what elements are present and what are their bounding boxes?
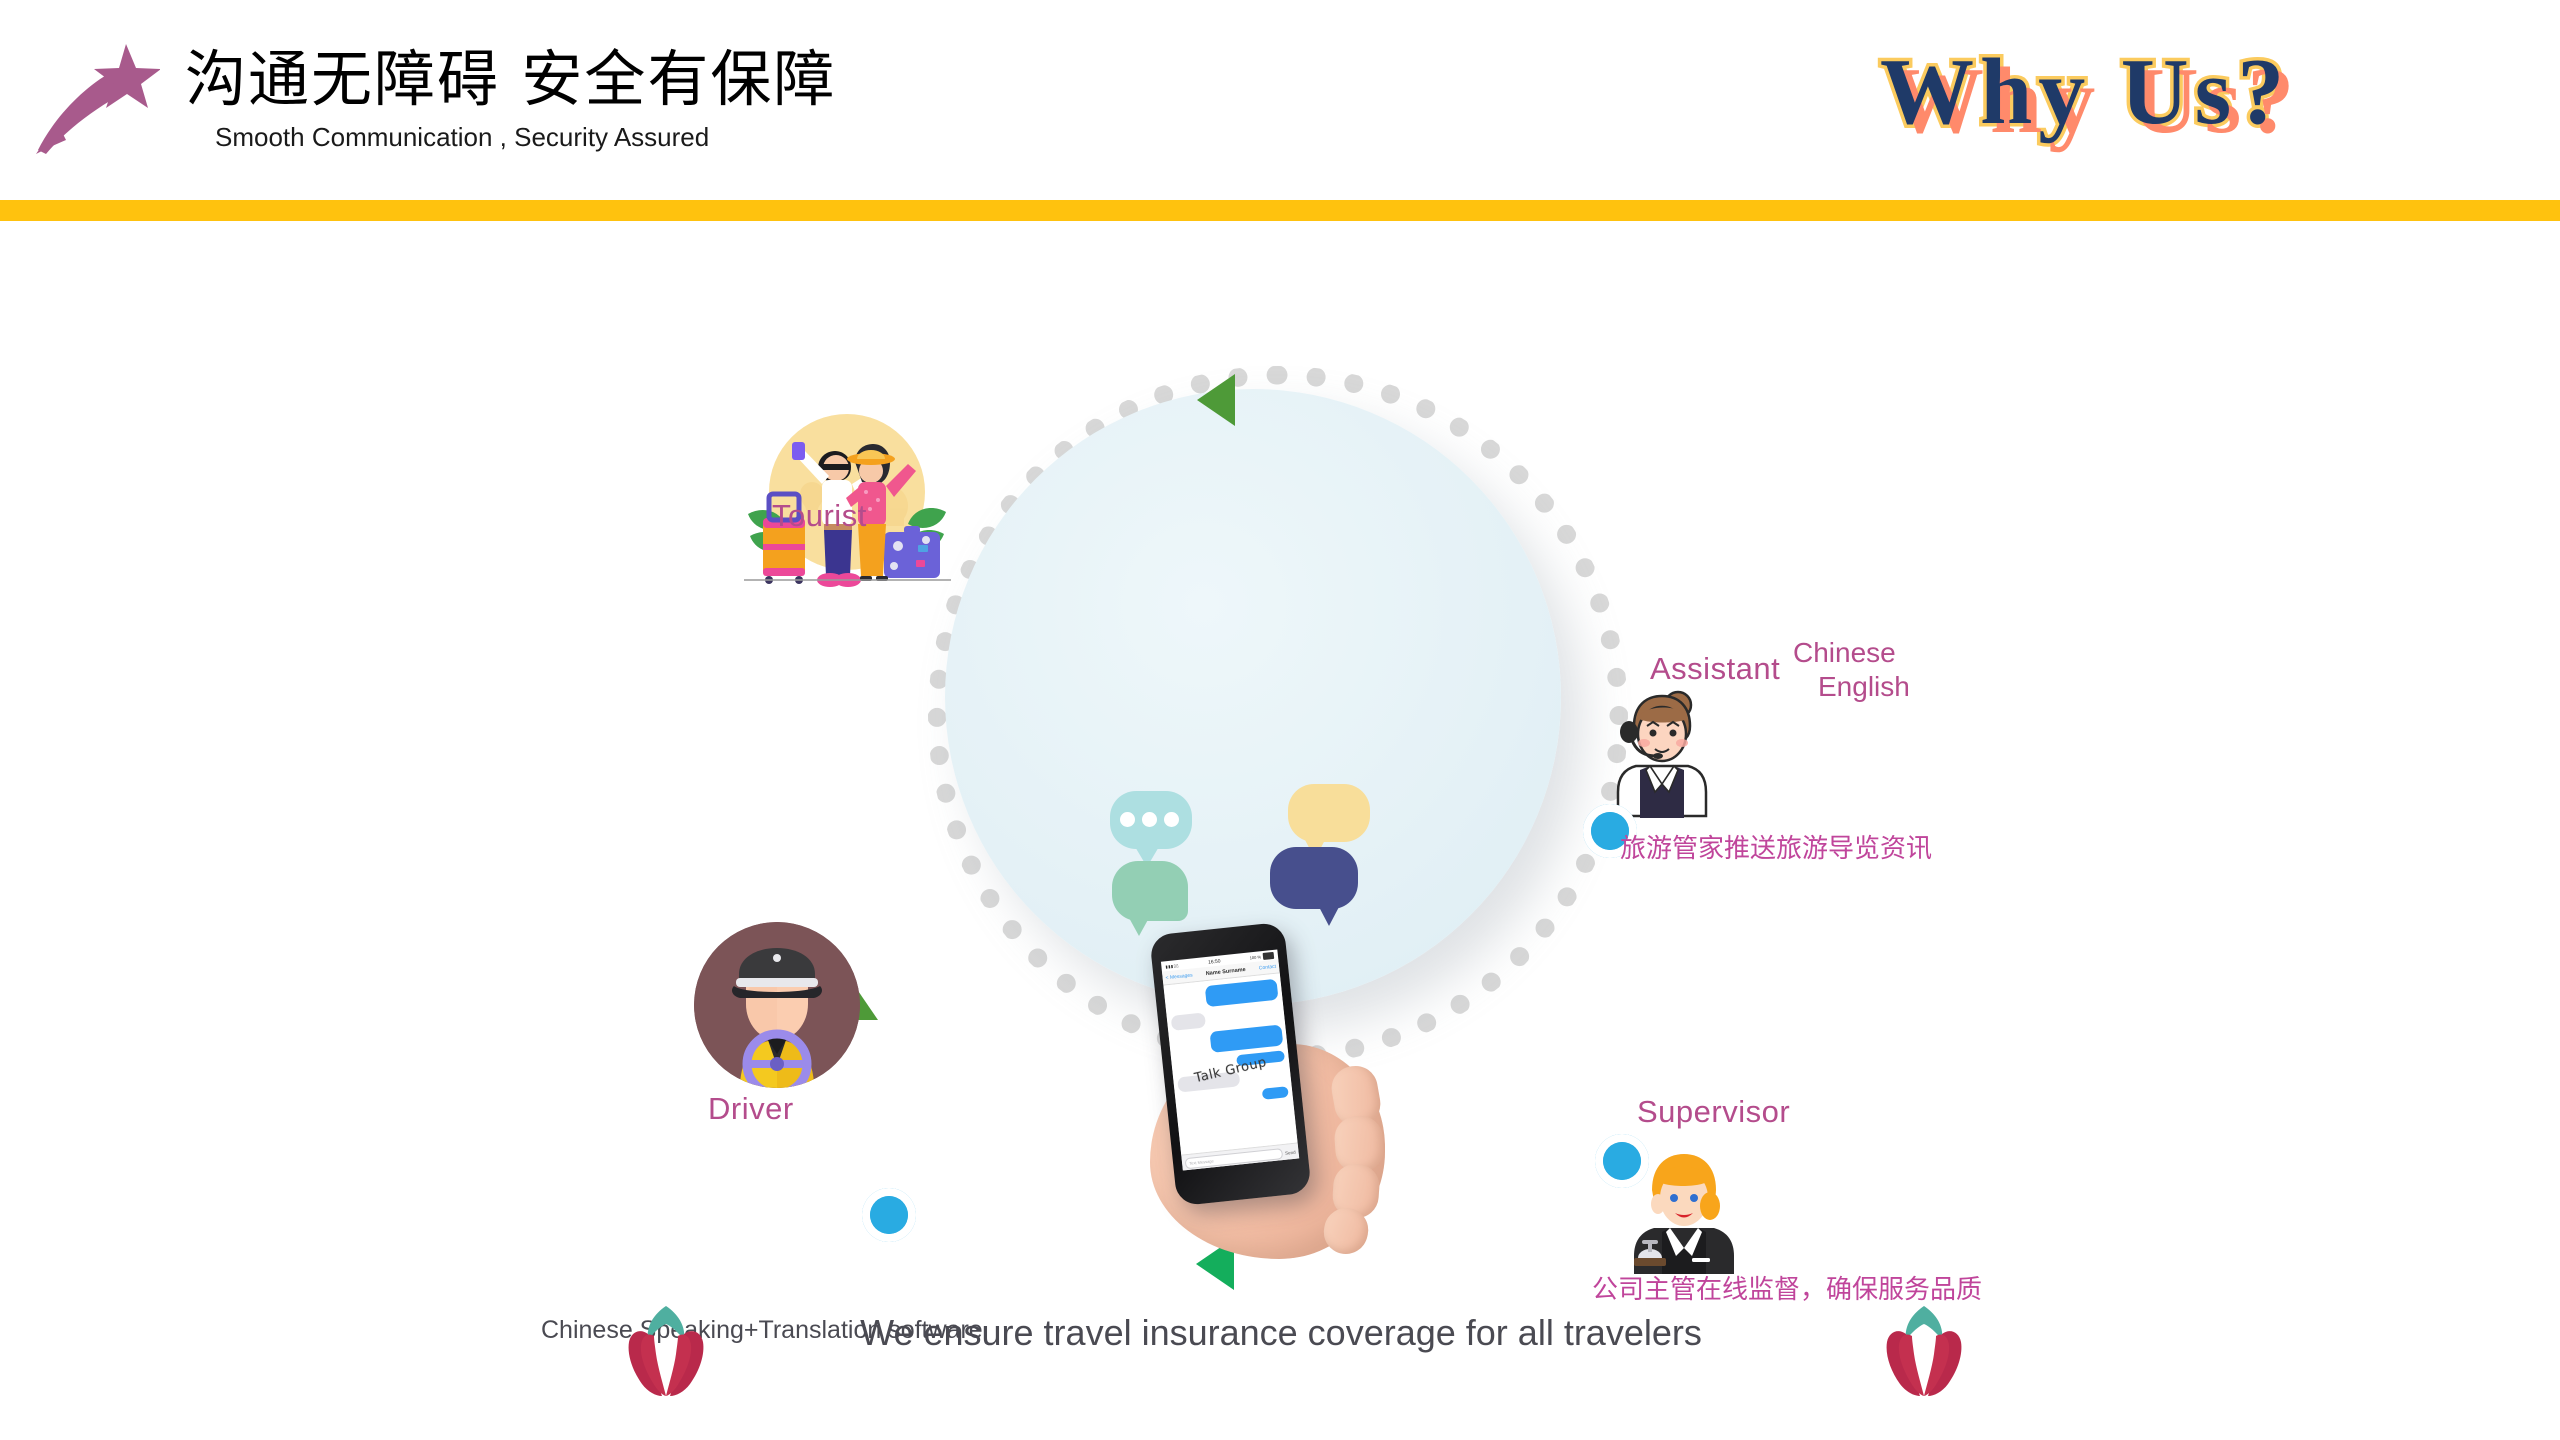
slide-root: 沟通无障碍 安全有保障 Smooth Communication , Secur… [0, 0, 2560, 1440]
smartphone-mockup: ▮▮▮▯▯ 16:50 100 % < Messages Name Surnam… [1149, 922, 1312, 1207]
why-us-heading: Why Us? [1880, 38, 2290, 146]
chat-bubble-outgoing [1210, 1024, 1284, 1052]
assistant-headset-avatar [1610, 686, 1718, 818]
node-label-driver: Driver [708, 1091, 794, 1127]
header-text-block: 沟通无障碍 安全有保障 Smooth Communication , Secur… [185, 48, 836, 153]
chat-bubble-outgoing [1262, 1086, 1289, 1100]
back-to-messages-button[interactable]: < Messages [1165, 972, 1193, 981]
phone-screen: ▮▮▮▯▯ 16:50 100 % < Messages Name Surnam… [1161, 949, 1299, 1170]
mint-bubble-icon [1112, 861, 1188, 921]
footer: We ensure travel insurance coverage for … [0, 1290, 2560, 1430]
node-label-supervisor: Supervisor [1637, 1094, 1790, 1130]
shooting-star-icon [30, 38, 160, 158]
chat-message-list: Talk Group [1163, 973, 1297, 1154]
footer-text: We ensure travel insurance coverage for … [836, 1312, 1726, 1354]
chat-bubble-outgoing [1205, 979, 1279, 1007]
center-circle [945, 389, 1561, 1005]
page-title-cn: 沟通无障碍 安全有保障 [185, 48, 836, 112]
battery-icon [1263, 952, 1275, 960]
caring-hands-icon [1876, 1300, 1972, 1400]
chat-bubble-incoming [1171, 1012, 1206, 1030]
send-button[interactable]: Send [1285, 1149, 1296, 1155]
diagram-stage: ▮▮▮▯▯ 16:50 100 % < Messages Name Surnam… [0, 216, 2560, 1440]
language-chinese: Chinese [1793, 636, 1910, 670]
node-label-assistant: Assistant [1650, 651, 1780, 687]
header: 沟通无障碍 安全有保障 Smooth Communication , Secur… [0, 0, 2560, 216]
typing-dots-icon [1120, 812, 1179, 827]
supervisor-node-marker[interactable] [1595, 1134, 1649, 1188]
typing-bubble-icon [1110, 791, 1192, 849]
page-subtitle-en: Smooth Communication , Security Assured [215, 122, 836, 153]
yellow-bubble-icon [1288, 784, 1370, 842]
arrow-top-icon [1197, 374, 1235, 426]
language-english: English [1818, 670, 1910, 704]
node-label-tourist: Tourist [772, 498, 867, 534]
assistant-languages: Chinese English [1793, 636, 1910, 704]
navy-bubble-icon [1270, 847, 1358, 909]
driver-cap-avatar [694, 922, 860, 1088]
assistant-caption: 旅游管家推送旅游导览资讯 [1620, 828, 1932, 865]
contact-button[interactable]: Contact [1259, 963, 1277, 971]
driver-node-marker[interactable] [862, 1188, 916, 1242]
status-time: 16:50 [1208, 958, 1221, 965]
conversation-title: Name Surname [1206, 966, 1246, 976]
signal-icon: ▮▮▮▯▯ [1165, 963, 1179, 969]
caring-hands-icon [618, 1300, 714, 1400]
